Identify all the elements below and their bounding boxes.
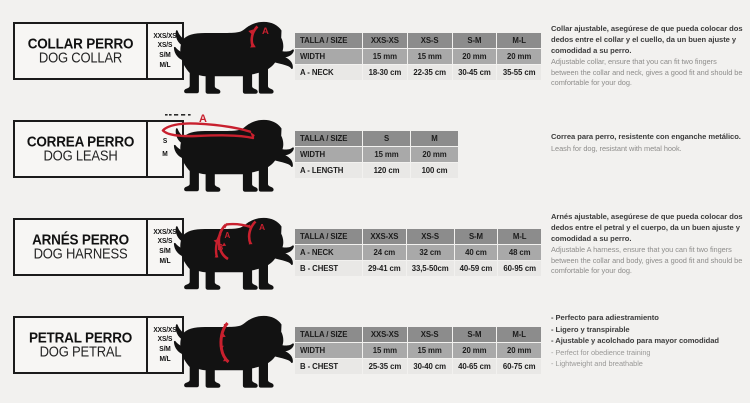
- feature-item-es: - Perfecto para adiestramiento: [551, 312, 743, 324]
- cell: 30-40 cm: [407, 359, 452, 375]
- measurement-marker-a-leash: A: [163, 113, 255, 139]
- description-es: Correa para perro, resistente con enganc…: [551, 132, 743, 143]
- cell: 15 mm: [407, 343, 452, 359]
- row-label: WIDTH: [295, 343, 363, 359]
- table-row: B - CHEST 25-35 cm 30-40 cm 40-65 cm 60-…: [295, 359, 542, 375]
- cell: 24 cm: [363, 245, 407, 261]
- feature-item-es: - Ajustable y acolchado para mayor comod…: [551, 335, 743, 347]
- cell: 33,5-50cm: [406, 261, 454, 277]
- row-label: B - CHEST: [295, 359, 363, 375]
- description-collar: Collar ajustable, asegúrese de que pueda…: [551, 24, 743, 89]
- table-header-cell: S: [363, 131, 411, 147]
- cell: 40 cm: [454, 245, 498, 261]
- cell: 15 mm: [363, 147, 411, 163]
- cell: 48 cm: [498, 245, 542, 261]
- dog-silhouette-collar: A: [158, 8, 298, 104]
- cell: 32 cm: [406, 245, 454, 261]
- svg-text:B: B: [218, 243, 224, 252]
- table-header-cell: XXS-XS: [363, 33, 408, 49]
- table-row: A - LENGTH 120 cm 100 cm: [295, 163, 459, 179]
- product-name-en: DOG COLLAR: [39, 50, 122, 66]
- product-name-box: PETRAL PERRO DOG PETRAL: [13, 316, 148, 374]
- cell: 29-41 cm: [363, 261, 407, 277]
- feature-item-en: - Lightweight and breathable: [551, 358, 743, 369]
- table-row: WIDTH 15 mm 15 mm 20 mm 20 mm: [295, 343, 542, 359]
- cell: 25-35 cm: [363, 359, 408, 375]
- feature-item-es: - Ligero y transpirable: [551, 324, 743, 336]
- svg-text:A: A: [262, 26, 269, 37]
- product-name-box: COLLAR PERRO DOG COLLAR: [13, 22, 148, 80]
- table-row: A - NECK 18-30 cm 22-35 cm 30-45 cm 35-5…: [295, 65, 542, 81]
- cell: 40-59 cm: [454, 261, 498, 277]
- row-label: WIDTH: [295, 49, 363, 65]
- cell: 40-65 cm: [452, 359, 497, 375]
- size-guide-sheet: COLLAR PERRO DOG COLLAR XXS/XS XS/S S/M …: [0, 0, 750, 403]
- product-name-box: CORREA PERRO DOG LEASH: [13, 120, 148, 178]
- cell: 20 mm: [411, 147, 459, 163]
- table-row: WIDTH 15 mm 15 mm 20 mm 20 mm: [295, 49, 542, 65]
- table-header-cell: M-L: [497, 33, 542, 49]
- cell: 22-35 cm: [407, 65, 452, 81]
- table-row: WIDTH 15 mm 20 mm: [295, 147, 459, 163]
- dog-body-shape: [174, 120, 294, 192]
- product-row-dog-collar: COLLAR PERRO DOG COLLAR XXS/XS XS/S S/M …: [0, 6, 750, 104]
- feature-item-en: - Perfect for obedience training: [551, 347, 743, 358]
- svg-text:A: A: [199, 113, 207, 125]
- cell: 20 mm: [452, 49, 497, 65]
- product-name-box: ARNÉS PERRO DOG HARNESS: [13, 218, 148, 276]
- table-header-cell: M-L: [497, 327, 542, 343]
- cell: 20 mm: [452, 343, 497, 359]
- table-row: A - NECK 24 cm 32 cm 40 cm 48 cm: [295, 245, 542, 261]
- leash-hook-dots: [165, 114, 191, 116]
- table-header-cell: M-L: [498, 229, 542, 245]
- table-header-row: TALLA / SIZE XXS-XS XS-S S-M M-L: [295, 33, 542, 49]
- cell: 35-55 cm: [497, 65, 542, 81]
- row-label: A - LENGTH: [295, 163, 363, 179]
- dog-body-shape: [174, 316, 294, 388]
- table-header-cell: XXS-XS: [363, 229, 407, 245]
- cell: 30-45 cm: [452, 65, 497, 81]
- table-header-cell: S-M: [454, 229, 498, 245]
- description-en: Leash for dog, resistant with metal hook…: [551, 144, 743, 155]
- size-table-harness: TALLA / SIZE XXS-XS XS-S S-M M-L A - NEC…: [294, 228, 542, 277]
- description-petral: - Perfecto para adiestramiento - Ligero …: [551, 312, 743, 369]
- dog-body-shape: [174, 22, 294, 94]
- description-es: Collar ajustable, asegúrese de que pueda…: [551, 24, 743, 56]
- cell: 60-95 cm: [498, 261, 542, 277]
- size-table-leash: TALLA / SIZE S M WIDTH 15 mm 20 mm A - L…: [294, 130, 459, 179]
- product-row-dog-petral: PETRAL PERRO DOG PETRAL XXS/XS XS/S S/M …: [0, 300, 750, 398]
- cell: 15 mm: [363, 49, 408, 65]
- description-harness: Arnés ajustable, asegúrese de que pueda …: [551, 212, 743, 277]
- table-header-cell: M: [411, 131, 459, 147]
- cell: 18-30 cm: [363, 65, 408, 81]
- dog-body-shape: [174, 218, 294, 290]
- table-header-cell: TALLA / SIZE: [295, 33, 363, 49]
- svg-text:A: A: [259, 222, 265, 232]
- product-row-dog-harness: ARNÉS PERRO DOG HARNESS XXS/XS XS/S S/M …: [0, 202, 750, 300]
- dog-silhouette-harness: A A B: [158, 204, 298, 300]
- table-header-cell: S-M: [452, 33, 497, 49]
- size-table-collar: TALLA / SIZE XXS-XS XS-S S-M M-L WIDTH 1…: [294, 32, 542, 81]
- table-header-cell: XXS-XS: [363, 327, 408, 343]
- table-header-cell: TALLA / SIZE: [295, 131, 363, 147]
- cell: 15 mm: [363, 343, 408, 359]
- description-en: Adjustable A harness, ensure that you ca…: [551, 245, 743, 277]
- size-table-petral: TALLA / SIZE XXS-XS XS-S S-M M-L WIDTH 1…: [294, 326, 542, 375]
- cell: 20 mm: [497, 49, 542, 65]
- feature-list: - Perfecto para adiestramiento - Ligero …: [551, 312, 743, 369]
- cell: 120 cm: [363, 163, 411, 179]
- table-header-cell: XS-S: [407, 33, 452, 49]
- table-header-row: TALLA / SIZE XXS-XS XS-S S-M M-L: [295, 327, 542, 343]
- row-label: B - CHEST: [295, 261, 363, 277]
- table-row: B - CHEST 29-41 cm 33,5-50cm 40-59 cm 60…: [295, 261, 542, 277]
- table-header-row: TALLA / SIZE S M: [295, 131, 459, 147]
- product-row-dog-leash: CORREA PERRO DOG LEASH S M A: [0, 104, 750, 202]
- table-header-cell: TALLA / SIZE: [295, 229, 363, 245]
- dog-silhouette-leash: A: [158, 106, 298, 202]
- product-name-en: DOG PETRAL: [40, 344, 122, 360]
- table-header-row: TALLA / SIZE XXS-XS XS-S S-M M-L: [295, 229, 542, 245]
- row-label: A - NECK: [295, 65, 363, 81]
- description-es: Arnés ajustable, asegúrese de que pueda …: [551, 212, 743, 244]
- table-header-cell: TALLA / SIZE: [295, 327, 363, 343]
- cell: 100 cm: [411, 163, 459, 179]
- cell: 20 mm: [497, 343, 542, 359]
- description-en: Adjustable collar, ensure that you can f…: [551, 57, 743, 89]
- cell: 60-75 cm: [497, 359, 542, 375]
- dog-silhouette-petral: [158, 302, 298, 398]
- row-label: A - NECK: [295, 245, 363, 261]
- table-header-cell: XS-S: [407, 327, 452, 343]
- row-label: WIDTH: [295, 147, 363, 163]
- cell: 15 mm: [407, 49, 452, 65]
- table-header-cell: S-M: [452, 327, 497, 343]
- table-header-cell: XS-S: [406, 229, 454, 245]
- product-name-en: DOG LEASH: [43, 148, 117, 164]
- description-leash: Correa para perro, resistente con enganc…: [551, 132, 743, 154]
- svg-text:A: A: [225, 231, 231, 240]
- product-name-en: DOG HARNESS: [34, 246, 128, 262]
